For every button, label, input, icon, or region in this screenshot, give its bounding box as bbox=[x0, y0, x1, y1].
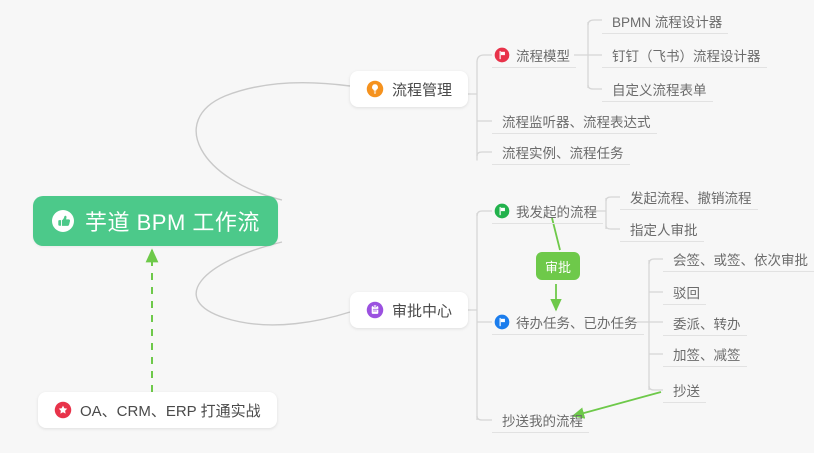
card-integration-practice[interactable]: OA、CRM、ERP 打通实战 bbox=[38, 392, 277, 428]
flag-icon bbox=[494, 203, 510, 219]
lightbulb-icon bbox=[366, 80, 384, 98]
node-add-remove-sign[interactable]: 加签、减签 bbox=[663, 341, 747, 367]
node-countersign-orsign-sequential[interactable]: 会签、或签、依次审批 bbox=[663, 246, 814, 272]
node-label: 待办任务、已办任务 bbox=[516, 312, 638, 332]
mindmap-canvas: 芋道 BPM 工作流 流程管理 流程模型 BPMN 流程设计器 钉钉（飞书）流程 bbox=[0, 0, 814, 453]
branch-approval-center[interactable]: 审批中心 bbox=[350, 292, 468, 328]
card-label: OA、CRM、ERP 打通实战 bbox=[80, 400, 261, 421]
node-label: 流程模型 bbox=[516, 45, 570, 65]
branch-process-management[interactable]: 流程管理 bbox=[350, 71, 468, 107]
node-label: 抄送 bbox=[673, 380, 700, 400]
flag-icon bbox=[494, 314, 510, 330]
node-label: 自定义流程表单 bbox=[612, 79, 707, 99]
annotation-label: 审批 bbox=[545, 257, 571, 276]
node-delegate-transfer[interactable]: 委派、转办 bbox=[663, 310, 747, 336]
root-node[interactable]: 芋道 BPM 工作流 bbox=[33, 196, 278, 246]
node-assignee-approval[interactable]: 指定人审批 bbox=[620, 216, 704, 242]
node-reject[interactable]: 驳回 bbox=[663, 279, 706, 305]
flag-icon bbox=[494, 47, 510, 63]
clipboard-icon bbox=[366, 301, 384, 319]
node-dingtalk-feishu-designer[interactable]: 钉钉（飞书）流程设计器 bbox=[602, 42, 767, 68]
node-label: 加签、减签 bbox=[673, 344, 741, 364]
node-label: 我发起的流程 bbox=[516, 201, 597, 221]
branch-label: 审批中心 bbox=[392, 300, 452, 321]
node-start-cancel-process[interactable]: 发起流程、撤销流程 bbox=[620, 184, 758, 210]
node-label: 流程监听器、流程表达式 bbox=[502, 111, 651, 131]
node-bpmn-designer[interactable]: BPMN 流程设计器 bbox=[602, 8, 728, 34]
annotation-approval-badge: 审批 bbox=[536, 252, 580, 280]
node-todo-done-tasks[interactable]: 待办任务、已办任务 bbox=[492, 309, 644, 335]
node-process-listener-expression[interactable]: 流程监听器、流程表达式 bbox=[492, 108, 657, 134]
node-label: 会签、或签、依次审批 bbox=[673, 249, 808, 269]
thumbs-up-icon bbox=[51, 209, 75, 233]
node-label: 流程实例、流程任务 bbox=[502, 142, 624, 162]
node-label: 委派、转办 bbox=[673, 313, 741, 333]
node-cc[interactable]: 抄送 bbox=[663, 377, 706, 403]
node-label: 驳回 bbox=[673, 282, 700, 302]
node-process-model[interactable]: 流程模型 bbox=[492, 42, 576, 68]
node-custom-process-form[interactable]: 自定义流程表单 bbox=[602, 76, 713, 102]
node-my-initiated-process[interactable]: 我发起的流程 bbox=[492, 198, 603, 224]
node-label: 抄送我的流程 bbox=[502, 410, 583, 430]
node-label: 发起流程、撤销流程 bbox=[630, 187, 752, 207]
node-label: 指定人审批 bbox=[630, 219, 698, 239]
node-label: BPMN 流程设计器 bbox=[612, 11, 722, 31]
node-cc-to-me-process[interactable]: 抄送我的流程 bbox=[492, 407, 589, 433]
star-icon bbox=[54, 401, 72, 419]
branch-label: 流程管理 bbox=[392, 79, 452, 100]
node-label: 钉钉（飞书）流程设计器 bbox=[612, 45, 761, 65]
node-process-instance-task[interactable]: 流程实例、流程任务 bbox=[492, 139, 630, 165]
root-label: 芋道 BPM 工作流 bbox=[85, 205, 260, 237]
